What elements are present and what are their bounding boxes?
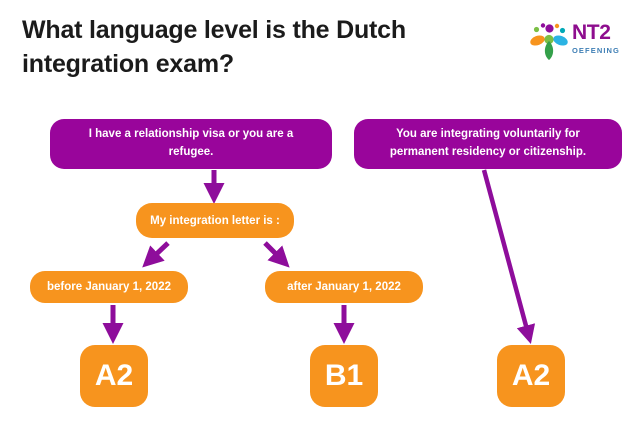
arrow-down-left-icon bbox=[148, 243, 168, 262]
logo-name: NT2 bbox=[572, 22, 630, 43]
logo-subtitle: OEFENING bbox=[572, 46, 630, 55]
flow-node-premise-left[interactable]: I have a relationship visa or you are a … bbox=[50, 119, 332, 169]
flow-node-result-a2-right[interactable]: A2 bbox=[497, 345, 565, 407]
brand-logo: NT2 OEFENING bbox=[528, 18, 628, 64]
logo-wordmark: NT2 OEFENING bbox=[572, 22, 630, 55]
flow-node-after-date[interactable]: after January 1, 2022 bbox=[265, 271, 423, 303]
flow-node-result-b1[interactable]: B1 bbox=[310, 345, 378, 407]
arrow-down-right-icon bbox=[265, 243, 284, 262]
arrow-down-long-icon bbox=[484, 170, 529, 337]
flower-people-icon bbox=[528, 20, 570, 62]
flow-node-premise-right[interactable]: You are integrating voluntarily for perm… bbox=[354, 119, 622, 169]
infographic-canvas: What language level is the Dutch integra… bbox=[0, 0, 640, 427]
page-title: What language level is the Dutch integra… bbox=[22, 14, 492, 81]
flow-node-integration-letter[interactable]: My integration letter is : bbox=[136, 203, 294, 238]
flow-node-before-date[interactable]: before January 1, 2022 bbox=[30, 271, 188, 303]
flow-node-result-a2-left[interactable]: A2 bbox=[80, 345, 148, 407]
